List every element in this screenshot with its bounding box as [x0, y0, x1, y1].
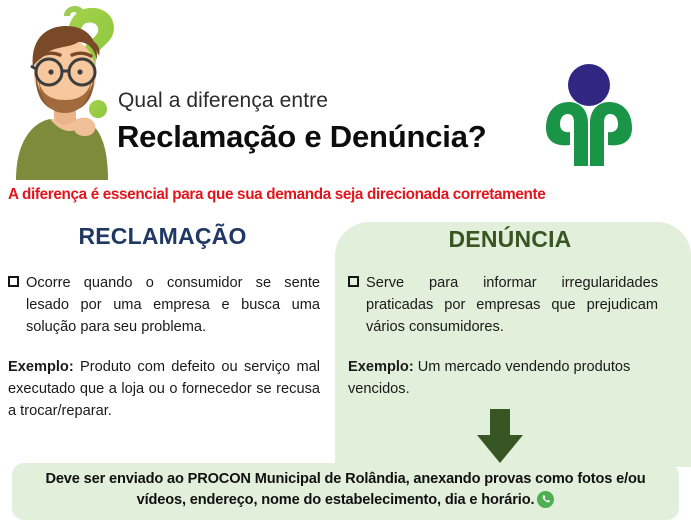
example-label: Exemplo:: [8, 359, 74, 375]
reclamacao-bullet-text: Ocorre quando o consumidor se sente lesa…: [26, 272, 320, 339]
reclamacao-heading: RECLAMAÇÃO: [0, 223, 325, 250]
list-item: Serve para informar irregularidades prat…: [348, 272, 658, 339]
infographic-page: Qual a diferença entre Reclamação e Denú…: [0, 0, 691, 530]
example-label: Exemplo:: [348, 359, 414, 375]
whatsapp-icon[interactable]: [537, 491, 554, 515]
denuncia-bullet-text: Serve para informar irregularidades prat…: [366, 272, 658, 339]
procon-logo: [538, 62, 640, 166]
thinking-man-illustration: [2, 2, 134, 180]
footer-bar: Deve ser enviado ao PROCON Municipal de …: [12, 463, 679, 520]
list-item: Ocorre quando o consumidor se sente lesa…: [8, 272, 320, 339]
page-title: Reclamação e Denúncia?: [117, 119, 486, 155]
denuncia-example: Exemplo: Um mercado vendendo produtos ve…: [348, 356, 658, 400]
denuncia-heading: DENÚNCIA: [345, 226, 675, 253]
footer-text-wrap: Deve ser enviado ao PROCON Municipal de …: [26, 469, 666, 514]
header-subtitle: Qual a diferença entre: [118, 89, 328, 113]
reclamacao-content: Ocorre quando o consumidor se sente lesa…: [8, 272, 320, 422]
checkbox-square-icon: [348, 276, 359, 287]
denuncia-content: Serve para informar irregularidades prat…: [348, 272, 658, 400]
reclamacao-example: Exemplo: Produto com defeito ou serviço …: [8, 356, 320, 423]
notice-line: A diferença é essencial para que sua dem…: [8, 186, 673, 204]
checkbox-square-icon: [8, 276, 19, 287]
footer-text: Deve ser enviado ao PROCON Municipal de …: [45, 471, 645, 508]
down-arrow-icon: [468, 409, 532, 463]
